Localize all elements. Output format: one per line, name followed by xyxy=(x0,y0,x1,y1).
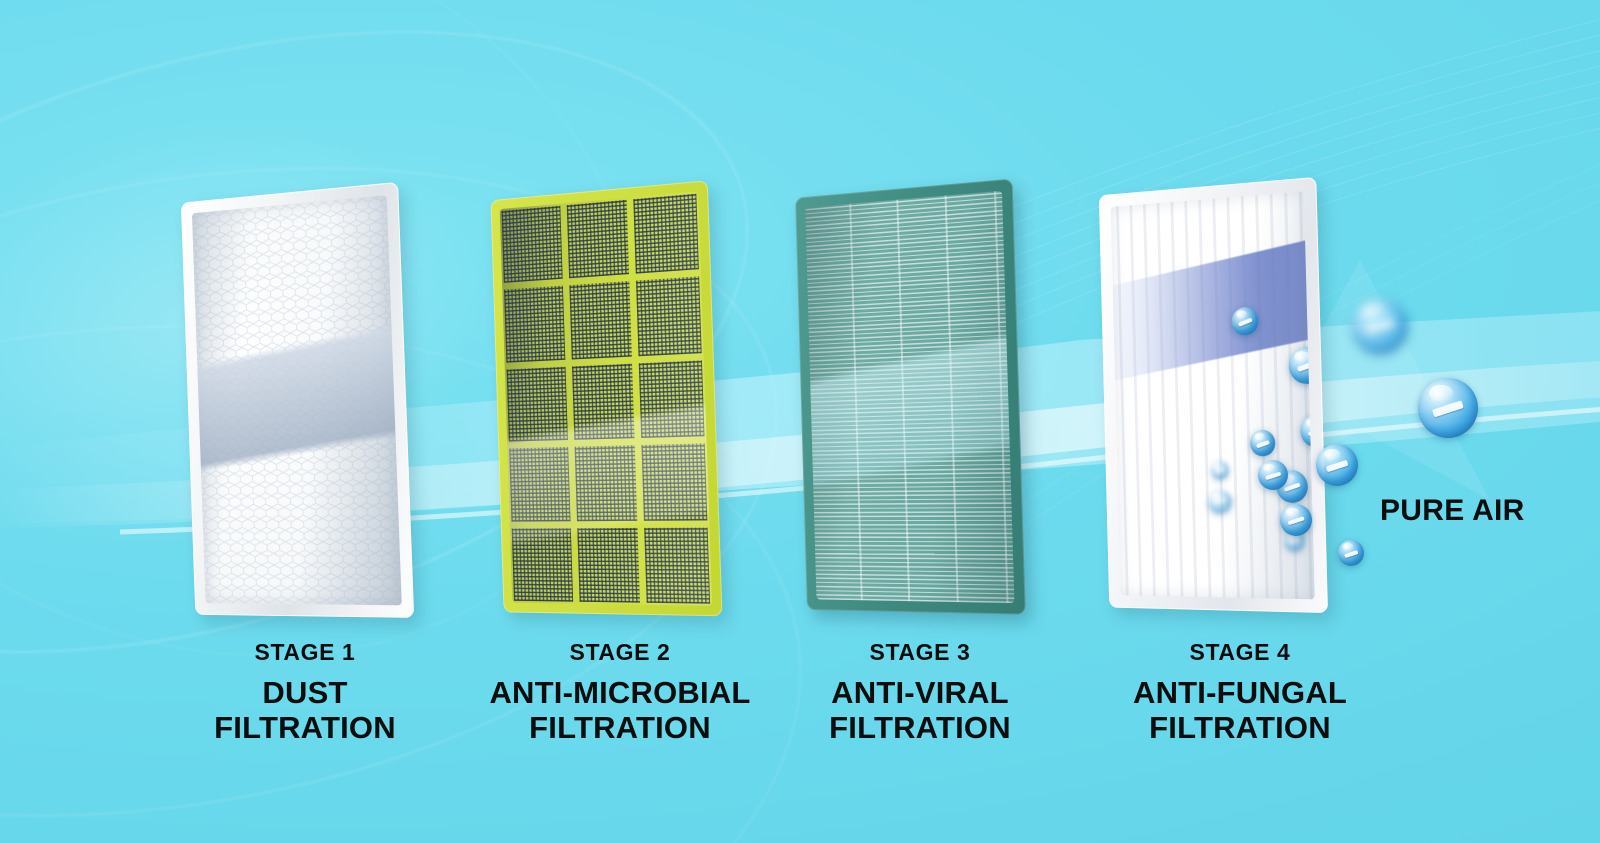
pure-air-label: PURE AIR xyxy=(1380,494,1525,528)
ion-band xyxy=(1111,236,1315,380)
grid-mesh-icon xyxy=(500,191,713,605)
stage-label-1: STAGE 1 DUST FILTRATION xyxy=(155,640,455,746)
filter-media-stage-3 xyxy=(805,191,1014,603)
ion-bubble-escaped xyxy=(1418,378,1478,438)
mesh-cell xyxy=(512,528,573,602)
ion-bubble-escaped xyxy=(1316,444,1358,486)
filter-panel-stage-1 xyxy=(181,182,414,618)
horizontal-line-mesh-icon xyxy=(805,191,1014,603)
honeycomb-mesh-icon xyxy=(192,195,402,605)
filter-media-stage-4 xyxy=(1111,191,1315,599)
stage-label-3: STAGE 3 ANTI-VIRAL FILTRATION xyxy=(770,640,1070,746)
ion-bubble xyxy=(1250,430,1276,457)
stage-title-3-line1: ANTI-VIRAL xyxy=(770,676,1070,711)
stage-title-2: ANTI-MICROBIAL FILTRATION xyxy=(470,676,770,745)
stage-title-3: ANTI-VIRAL FILTRATION xyxy=(770,676,1070,745)
mesh-cell xyxy=(642,444,708,521)
mesh-cell xyxy=(634,194,699,274)
mesh-cell xyxy=(504,286,565,362)
ion-bubble xyxy=(1211,461,1229,480)
mesh-cell xyxy=(569,282,632,360)
stage-title-4: ANTI-FUNGAL FILTRATION xyxy=(1090,676,1390,745)
ion-bubble-escaped xyxy=(1258,460,1288,490)
stage-label-2: STAGE 2 ANTI-MICROBIAL FILTRATION xyxy=(470,640,770,746)
stage-number-3: STAGE 3 xyxy=(770,640,1070,664)
filter-panel-stage-4 xyxy=(1099,177,1328,613)
stage-number-1: STAGE 1 xyxy=(155,640,455,664)
stage-title-3-line2: FILTRATION xyxy=(770,711,1070,746)
mesh-cell xyxy=(502,206,563,284)
stage-label-4: STAGE 4 ANTI-FUNGAL FILTRATION xyxy=(1090,640,1390,746)
ion-bubble-escaped xyxy=(1352,298,1408,354)
stage-title-1: DUST FILTRATION xyxy=(155,676,455,745)
ion-bubble-escaped xyxy=(1280,504,1312,536)
mesh-cell xyxy=(566,200,629,279)
filter-media-stage-2 xyxy=(500,191,713,605)
stage-title-1-line1: DUST xyxy=(155,676,455,711)
mesh-cell xyxy=(509,447,570,521)
air-purifier-stages-graphic: STAGE 1 DUST FILTRATION STAGE 2 ANTI-MIC… xyxy=(0,0,1600,843)
ion-bubble-escaped xyxy=(1338,540,1364,566)
mesh-cell xyxy=(644,527,710,604)
ion-bubble-escaped xyxy=(1208,490,1232,514)
stage-title-4-line2: FILTRATION xyxy=(1090,711,1390,746)
stage-title-4-line1: ANTI-FUNGAL xyxy=(1090,676,1390,711)
stage-title-1-line2: FILTRATION xyxy=(155,711,455,746)
mesh-cell xyxy=(507,367,568,442)
filter-panel-stage-3 xyxy=(795,179,1026,615)
mesh-cell xyxy=(639,360,704,438)
stage-title-2-line1: ANTI-MICROBIAL xyxy=(470,676,770,711)
mesh-cell xyxy=(636,277,701,356)
stage-number-2: STAGE 2 xyxy=(470,640,770,664)
filter-media-stage-1 xyxy=(192,195,402,605)
filter-panel-stage-2 xyxy=(490,180,722,616)
mesh-cell xyxy=(577,528,640,603)
mesh-cell xyxy=(572,363,635,440)
mesh-cell xyxy=(574,445,637,520)
stage-number-4: STAGE 4 xyxy=(1090,640,1390,664)
stage-title-2-line2: FILTRATION xyxy=(470,711,770,746)
